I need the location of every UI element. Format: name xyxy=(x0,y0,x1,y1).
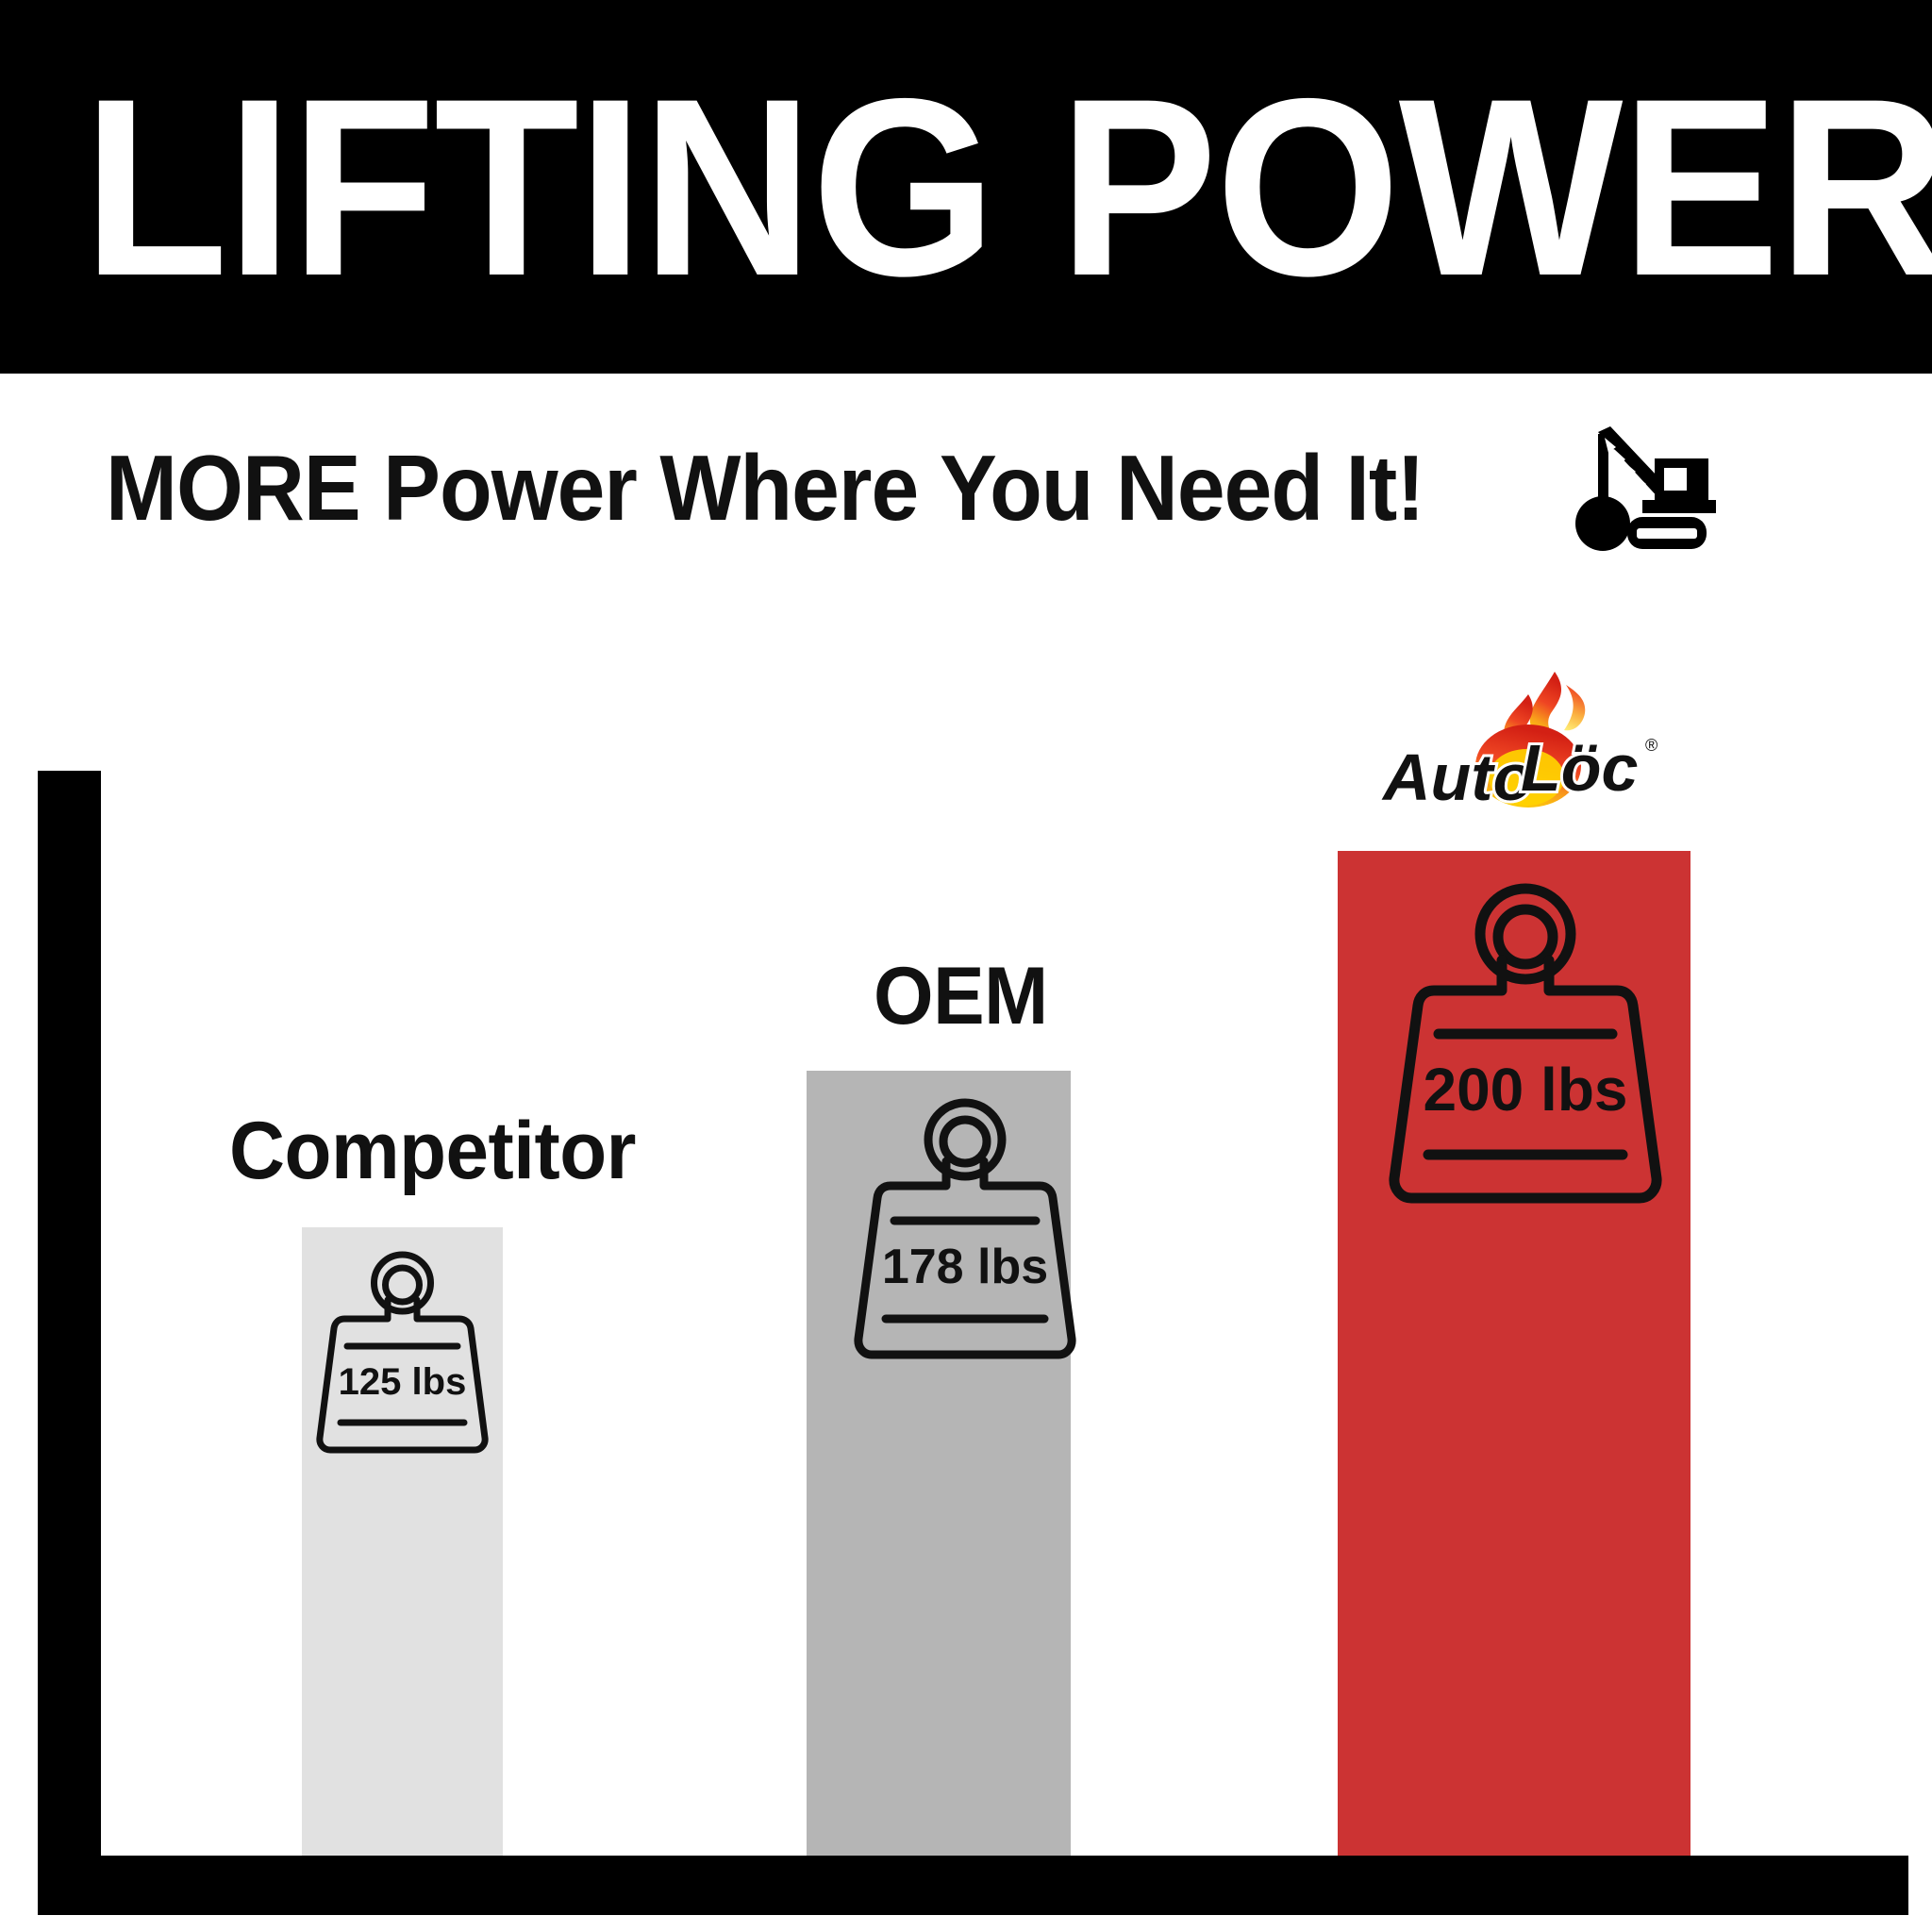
bar-label-competitor: Competitor xyxy=(229,1106,636,1196)
weight-value-autoloc: 200 lbs xyxy=(1423,1056,1627,1124)
infographic-page: LIFTING POWER MORE Power Where You Need … xyxy=(0,0,1932,1932)
weight-icon-autoloc: 200 lbs xyxy=(1389,868,1662,1211)
autoloc-logo: Auto Löc ® xyxy=(1370,653,1674,838)
bar-label-oem: OEM xyxy=(874,951,1048,1041)
chart-y-axis xyxy=(38,771,101,1915)
subtitle-text: MORE Power Where You Need It! xyxy=(106,436,1424,540)
autoloc-wordmark: Auto Löc ® xyxy=(1381,731,1657,814)
weight-icon-competitor: 125 lbs xyxy=(316,1241,489,1458)
crane-wrecking-ball-icon xyxy=(1567,417,1737,558)
subtitle-row: MORE Power Where You Need It! xyxy=(106,426,1737,549)
weight-value-oem: 178 lbs xyxy=(882,1240,1048,1294)
header-banner: LIFTING POWER xyxy=(0,0,1932,374)
autoloc-wordmark-loc: Löc xyxy=(1521,731,1638,805)
autoloc-wordmark-auto: Auto xyxy=(1381,741,1533,814)
chart-x-axis xyxy=(38,1856,1908,1915)
registered-trademark-mark: ® xyxy=(1645,736,1657,755)
page-title: LIFTING POWER xyxy=(83,45,1759,328)
weight-value-competitor: 125 lbs xyxy=(339,1361,467,1403)
weight-icon-oem: 178 lbs xyxy=(854,1086,1076,1365)
